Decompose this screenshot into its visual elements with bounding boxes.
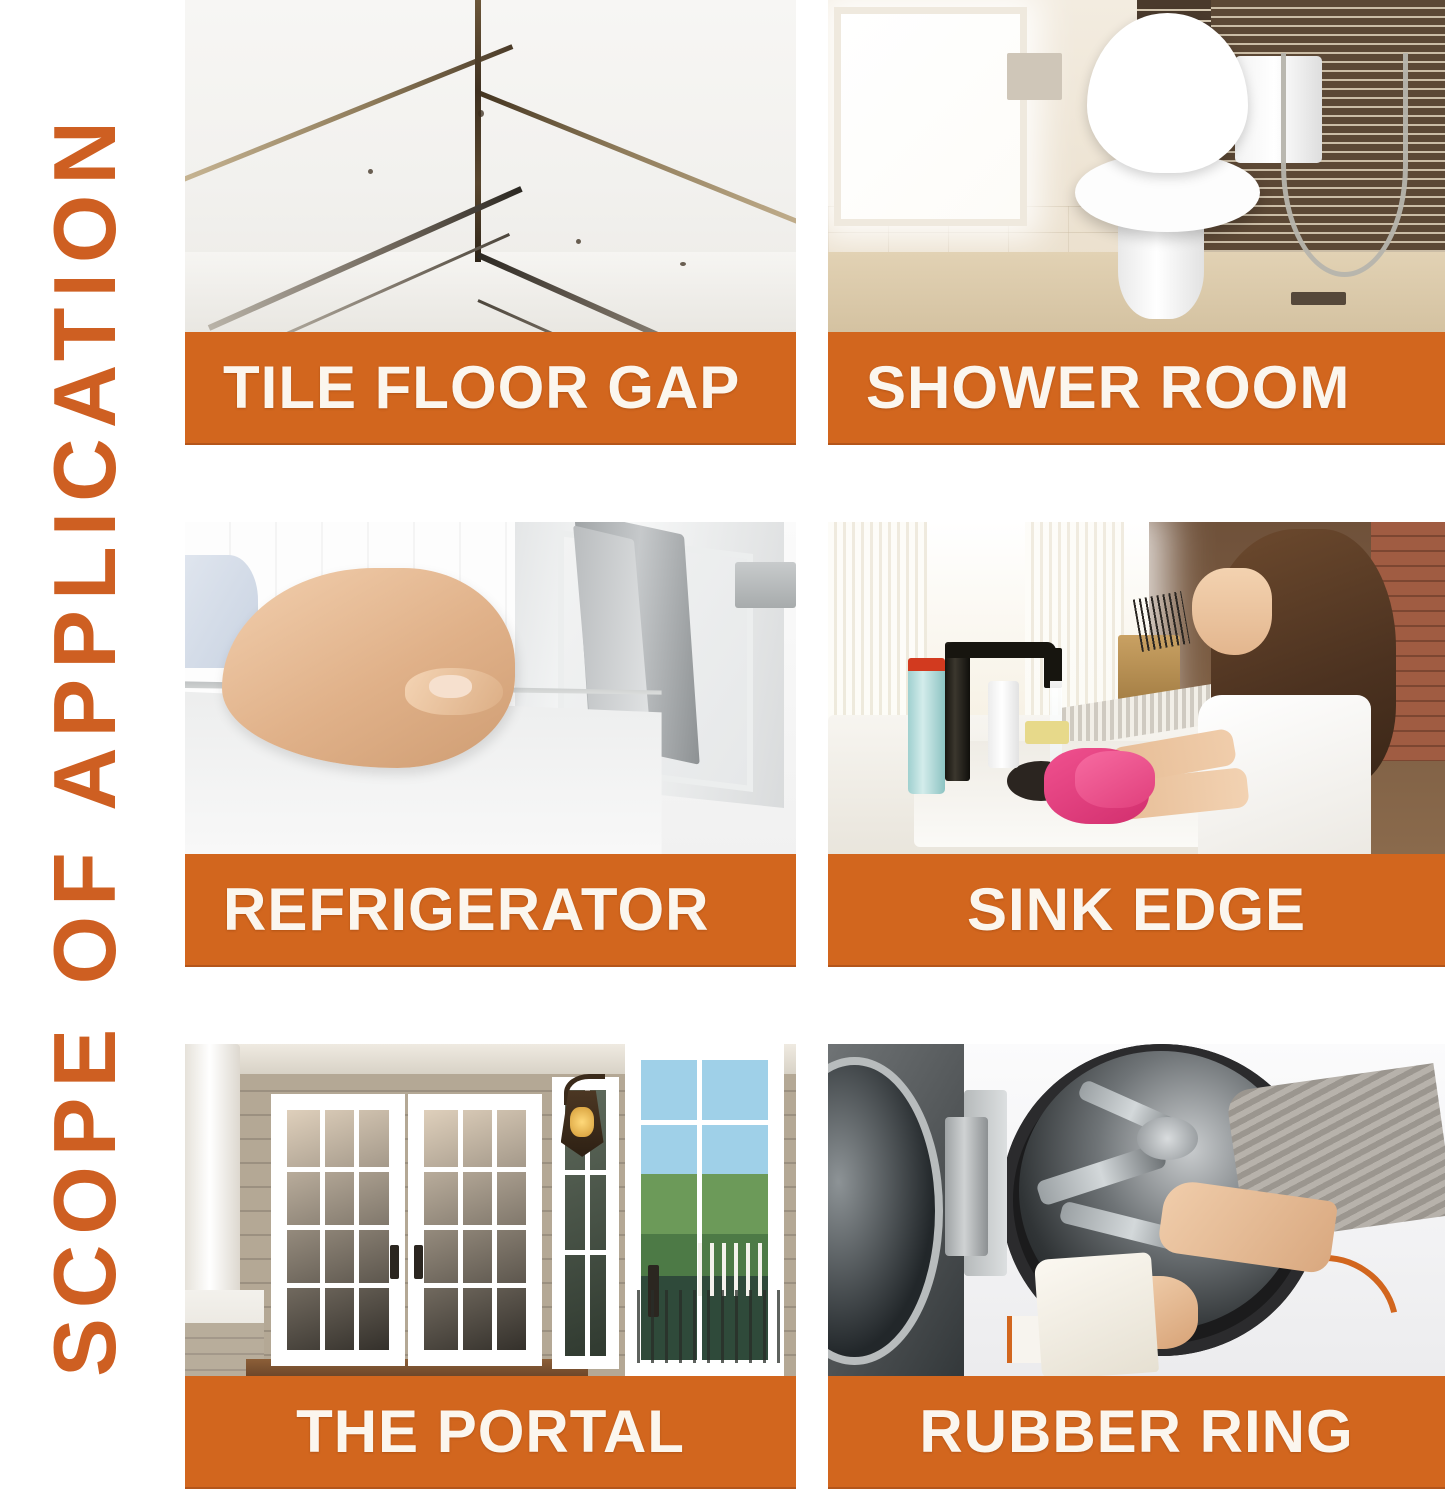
application-scope-grid: TILE FLOOR GAP SHOWER ROOM xyxy=(185,0,1445,1487)
floor-drain xyxy=(1291,292,1347,305)
muntin-horizontal xyxy=(424,1225,526,1230)
panel-the-portal: THE PORTAL xyxy=(185,1044,796,1489)
label-text-the-portal: THE PORTAL xyxy=(296,1402,685,1462)
panel-tile-floor-gap: TILE FLOOR GAP xyxy=(185,0,796,445)
curtain-right xyxy=(1025,522,1124,721)
label-bar-rubber-ring: RUBBER RING xyxy=(828,1376,1445,1489)
muntin-horizontal xyxy=(424,1283,526,1288)
label-text-sink-edge: SINK EDGE xyxy=(967,880,1306,940)
bathroom-window xyxy=(834,7,1027,227)
muntin-vertical xyxy=(320,1110,325,1350)
photo-shower-room xyxy=(828,0,1445,332)
cleaning-cloth xyxy=(1034,1253,1159,1376)
muntin-horizontal xyxy=(641,1120,768,1125)
panel-sink-edge: SINK EDGE xyxy=(828,522,1445,967)
porch-column xyxy=(185,1044,240,1310)
drum-center-hub xyxy=(1137,1117,1199,1160)
muntin-vertical xyxy=(458,1110,463,1350)
door-handle[interactable] xyxy=(414,1245,423,1279)
faucet-spout xyxy=(945,642,1056,659)
outdoor-pergola xyxy=(698,1243,765,1296)
muntin-horizontal xyxy=(287,1283,389,1288)
door-handle[interactable] xyxy=(390,1245,399,1279)
grout-line-vertical xyxy=(475,0,481,262)
mold-speck xyxy=(576,239,581,244)
thumbnail xyxy=(429,675,472,698)
label-text-refrigerator: REFRIGERATOR xyxy=(223,880,709,940)
muntin-vertical xyxy=(492,1110,497,1350)
grout-line-upper-right xyxy=(477,90,796,237)
panel-shower-room: SHOWER ROOM xyxy=(828,0,1445,445)
mold-speck xyxy=(478,110,484,117)
french-door-left-glass xyxy=(287,1110,389,1350)
toilet-paper-holder xyxy=(1007,53,1063,99)
pink-rubber-glove-right xyxy=(1075,751,1155,807)
washer-hinge xyxy=(945,1117,988,1256)
label-text-shower-room: SHOWER ROOM xyxy=(866,358,1350,418)
lantern-bulb xyxy=(570,1107,594,1137)
deck-railing xyxy=(637,1290,784,1363)
photo-the-portal xyxy=(185,1044,796,1376)
french-door-left xyxy=(271,1094,405,1366)
label-bar-sink-edge: SINK EDGE xyxy=(828,854,1445,967)
grout-line-upper-left xyxy=(185,44,513,191)
muntin-horizontal xyxy=(287,1225,389,1230)
french-door-right xyxy=(408,1094,542,1366)
label-text-tile-floor-gap: TILE FLOOR GAP xyxy=(223,358,740,418)
muntin-vertical xyxy=(354,1110,359,1350)
spray-bottle-cap xyxy=(908,658,945,671)
faucet-body xyxy=(945,642,970,781)
label-bar-refrigerator: REFRIGERATOR xyxy=(185,854,796,967)
label-bar-shower-room: SHOWER ROOM xyxy=(828,332,1445,445)
photo-sink-edge xyxy=(828,522,1445,854)
french-door-right-glass xyxy=(424,1110,526,1350)
photo-refrigerator xyxy=(185,522,796,854)
sponge xyxy=(1025,721,1068,744)
muntin-horizontal xyxy=(287,1167,389,1172)
muntin-horizontal xyxy=(424,1167,526,1172)
panel-refrigerator: REFRIGERATOR xyxy=(185,522,796,967)
panel-rubber-ring: RUBBER RING xyxy=(828,1044,1445,1489)
label-text-rubber-ring: RUBBER RING xyxy=(919,1402,1353,1462)
girl-face xyxy=(1192,568,1272,654)
scope-of-application-text: SCOPE OF APPLICATION xyxy=(34,111,136,1377)
spray-bottle xyxy=(908,661,945,794)
photo-rubber-ring xyxy=(828,1044,1445,1376)
label-bar-tile-floor-gap: TILE FLOOR GAP xyxy=(185,332,796,445)
bidet-sprayer-hose xyxy=(1281,53,1408,277)
scope-of-application-heading: SCOPE OF APPLICATION xyxy=(0,0,170,1487)
fridge-hinge xyxy=(735,562,796,608)
soap-dispenser xyxy=(988,681,1019,767)
photo-tile-floor-gap xyxy=(185,0,796,332)
knife-blades xyxy=(1132,591,1190,652)
mold-speck xyxy=(368,169,373,174)
label-bar-the-portal: THE PORTAL xyxy=(185,1376,796,1489)
